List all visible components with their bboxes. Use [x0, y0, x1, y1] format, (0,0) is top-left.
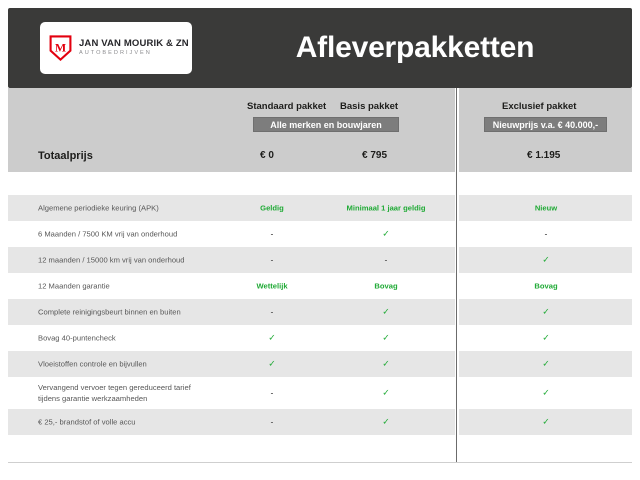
table-spacer-row [459, 174, 632, 195]
table-row: Vervangend vervoer tegen gereduceerd tar… [8, 377, 455, 409]
table-row: 6 Maanden / 7500 KM vrij van onderhoud-✓ [8, 221, 455, 247]
check-icon: ✓ [542, 417, 550, 428]
cell-value: Geldig [260, 204, 284, 213]
check-icon: ✓ [382, 229, 390, 240]
table-row: ✓ [459, 377, 632, 409]
total-price-exclusief: € 1.195 [527, 150, 560, 161]
feature-table-left: Algemene periodieke keuring (APK)GeldigM… [8, 174, 455, 463]
check-icon: ✓ [382, 417, 390, 428]
company-logo: M JAN VAN MOURIK & ZN AUTOBEDRIJVEN [40, 22, 192, 74]
badge-alle-merken: Alle merken en bouwjaren [253, 117, 399, 132]
logo-company-subtitle: AUTOBEDRIJVEN [79, 51, 189, 57]
table-spacer-row [8, 435, 455, 463]
feature-label: 12 Maanden garantie [38, 281, 110, 292]
table-row: Nieuw [459, 195, 632, 221]
feature-table-right: Nieuw-✓Bovag✓✓✓✓✓ [459, 174, 632, 463]
cell-value: Nieuw [535, 204, 557, 213]
table-row: ✓ [459, 325, 632, 351]
total-price-basis: € 795 [362, 150, 387, 161]
total-price-label: Totaalprijs [38, 150, 93, 162]
feature-label: Vloeistoffen controle en bijvullen [38, 359, 147, 370]
badge-nieuwprijs: Nieuwprijs v.a. € 40.000,- [484, 117, 607, 132]
table-row: ✓ [459, 409, 632, 435]
check-icon: ✓ [268, 359, 276, 370]
not-included-dash: - [271, 389, 274, 398]
cell-value: Bovag [534, 282, 557, 291]
svg-text:M: M [55, 41, 66, 55]
cell-value: Minimaal 1 jaar geldig [347, 204, 426, 213]
table-row: Vloeistoffen controle en bijvullen✓✓ [8, 351, 455, 377]
cell-value: Wettelijk [256, 282, 287, 291]
not-included-dash: - [545, 230, 548, 239]
table-row: - [459, 221, 632, 247]
not-included-dash: - [271, 418, 274, 427]
table-row: Bovag 40-puntencheck✓✓ [8, 325, 455, 351]
shield-logo-icon: M [49, 35, 72, 61]
feature-label: Vervangend vervoer tegen gereduceerd tar… [38, 382, 191, 404]
not-included-dash: - [271, 230, 274, 239]
check-icon: ✓ [542, 388, 550, 399]
not-included-dash: - [271, 308, 274, 317]
check-icon: ✓ [382, 307, 390, 318]
feature-label: Complete reinigingsbeurt binnen en buite… [38, 307, 181, 318]
check-icon: ✓ [542, 307, 550, 318]
cell-value: Bovag [374, 282, 397, 291]
column-divider [456, 88, 457, 463]
feature-label: € 25,- brandstof of volle accu [38, 417, 136, 428]
total-price-standaard: € 0 [260, 150, 274, 161]
column-header-basis: Basis pakket [340, 101, 398, 112]
table-spacer-row [8, 174, 455, 195]
not-included-dash: - [271, 256, 274, 265]
table-row: ✓ [459, 299, 632, 325]
not-included-dash: - [385, 256, 388, 265]
check-icon: ✓ [382, 333, 390, 344]
column-header-standaard: Standaard pakket [247, 101, 326, 112]
logo-company-name: JAN VAN MOURIK & ZN [79, 39, 189, 49]
table-row: ✓ [459, 247, 632, 273]
table-row: Complete reinigingsbeurt binnen en buite… [8, 299, 455, 325]
afleverpakketten-page: M JAN VAN MOURIK & ZN AUTOBEDRIJVEN Afle… [0, 0, 640, 480]
check-icon: ✓ [542, 255, 550, 266]
check-icon: ✓ [542, 333, 550, 344]
check-icon: ✓ [382, 388, 390, 399]
bottom-rule [8, 462, 632, 463]
table-row: € 25,- brandstof of volle accu-✓ [8, 409, 455, 435]
feature-label: 6 Maanden / 7500 KM vrij van onderhoud [38, 229, 177, 240]
check-icon: ✓ [382, 359, 390, 370]
check-icon: ✓ [542, 359, 550, 370]
check-icon: ✓ [268, 333, 276, 344]
feature-label: Algemene periodieke keuring (APK) [38, 203, 159, 214]
page-banner: M JAN VAN MOURIK & ZN AUTOBEDRIJVEN Afle… [8, 8, 632, 88]
table-row: 12 Maanden garantieWettelijkBovag [8, 273, 455, 299]
feature-label: 12 maanden / 15000 km vrij van onderhoud [38, 255, 185, 266]
table-row: Bovag [459, 273, 632, 299]
table-row: 12 maanden / 15000 km vrij van onderhoud… [8, 247, 455, 273]
table-row: Algemene periodieke keuring (APK)GeldigM… [8, 195, 455, 221]
page-title: Afleverpakketten [198, 8, 632, 88]
feature-label: Bovag 40-puntencheck [38, 333, 116, 344]
column-header-exclusief: Exclusief pakket [502, 101, 576, 112]
table-row: ✓ [459, 351, 632, 377]
table-spacer-row [459, 435, 632, 463]
